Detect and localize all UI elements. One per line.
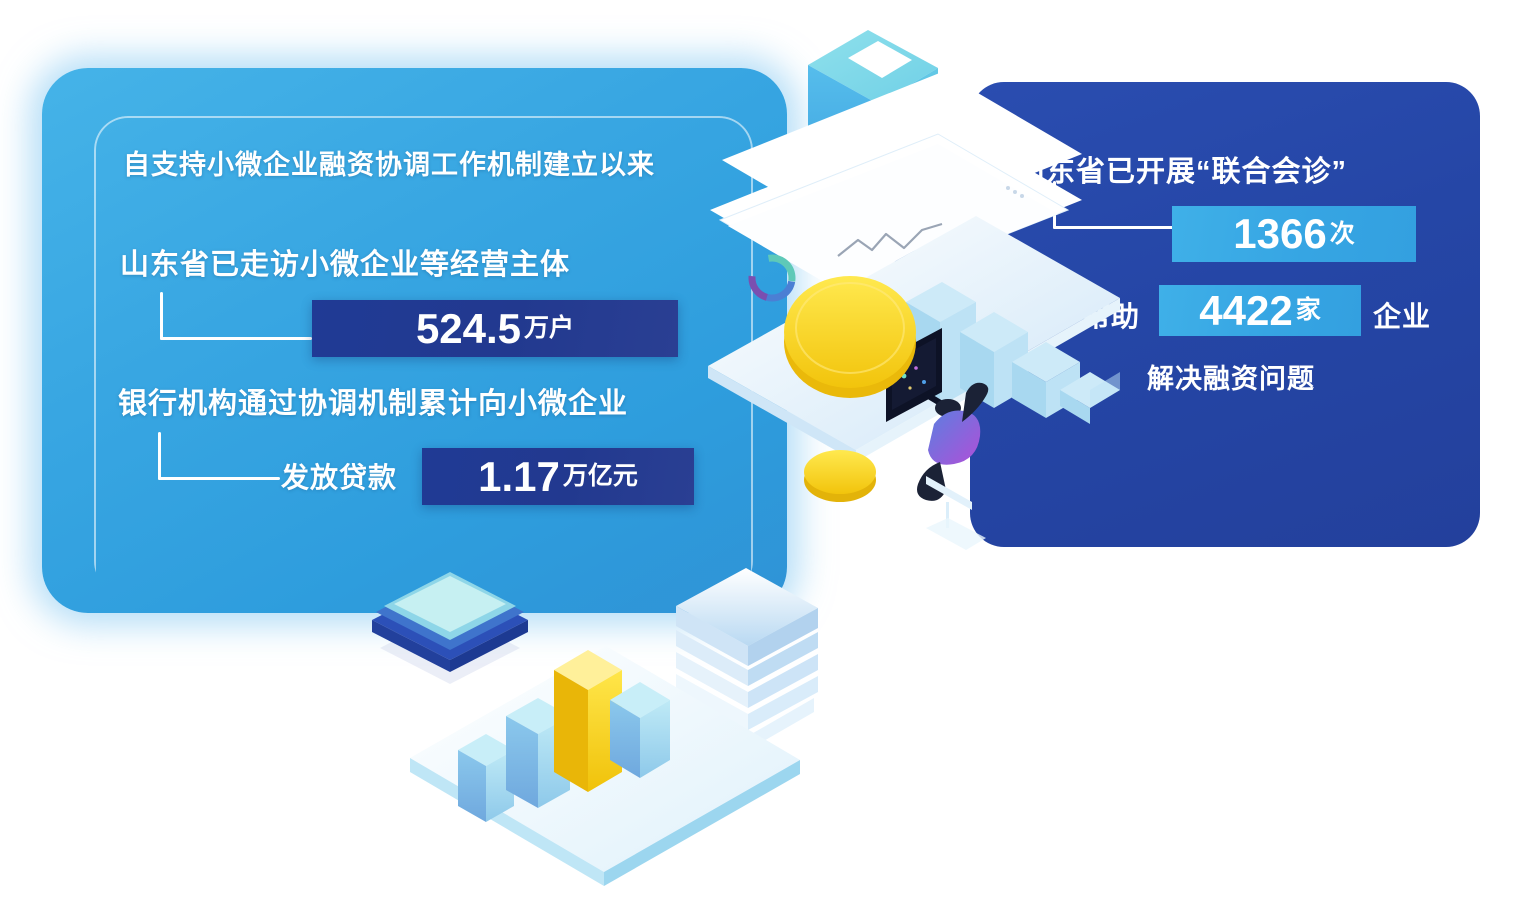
infographic-canvas: 自支持小微企业融资协调工作机制建立以来 山东省已走访小微企业等经营主体 524.… (0, 0, 1535, 900)
bottom-illustration (350, 520, 870, 890)
connector-1-horizontal (160, 337, 312, 340)
left-stat1-box: 524.5 万户 (312, 300, 678, 357)
connector-2-vertical (158, 432, 161, 480)
right-help-suffix: 企业 (1373, 295, 1431, 335)
left-stat2-unit: 万亿元 (563, 464, 638, 489)
blue-rounded-stack-icon (372, 572, 528, 684)
center-illustration (690, 10, 1160, 570)
right-stat1-value: 1366 (1233, 213, 1326, 255)
left-stat2-sublabel: 发放贷款 (281, 456, 397, 496)
right-stat2-value: 4422 (1199, 290, 1292, 332)
left-stat1-value: 524.5 (416, 308, 521, 350)
right-stat1-chip: 1366 次 (1172, 206, 1416, 262)
left-stat2-value: 1.17 (478, 456, 560, 498)
left-headline: 自支持小微企业融资协调工作机制建立以来 (123, 143, 655, 182)
right-stat2-chip: 4422 家 (1159, 285, 1361, 336)
connector-2-horizontal (158, 477, 280, 480)
left-stat2-label: 银行机构通过协调机制累计向小微企业 (118, 380, 628, 422)
connector-line-2 (158, 432, 280, 480)
right-stat1-unit: 次 (1330, 222, 1355, 247)
connector-1-vertical (160, 292, 163, 340)
left-stat1-label: 山东省已走访小微企业等经营主体 (120, 241, 570, 283)
left-stat2-box: 1.17 万亿元 (422, 448, 694, 505)
gold-coin-small-icon (804, 450, 876, 502)
left-stat1-unit: 万户 (524, 316, 574, 341)
right-stat2-unit: 家 (1296, 298, 1321, 323)
connector-line-1 (160, 292, 312, 340)
right-footer-text: 解决融资问题 (1147, 357, 1315, 396)
gold-coin-large-icon (784, 276, 916, 398)
chair-icon (926, 476, 986, 550)
